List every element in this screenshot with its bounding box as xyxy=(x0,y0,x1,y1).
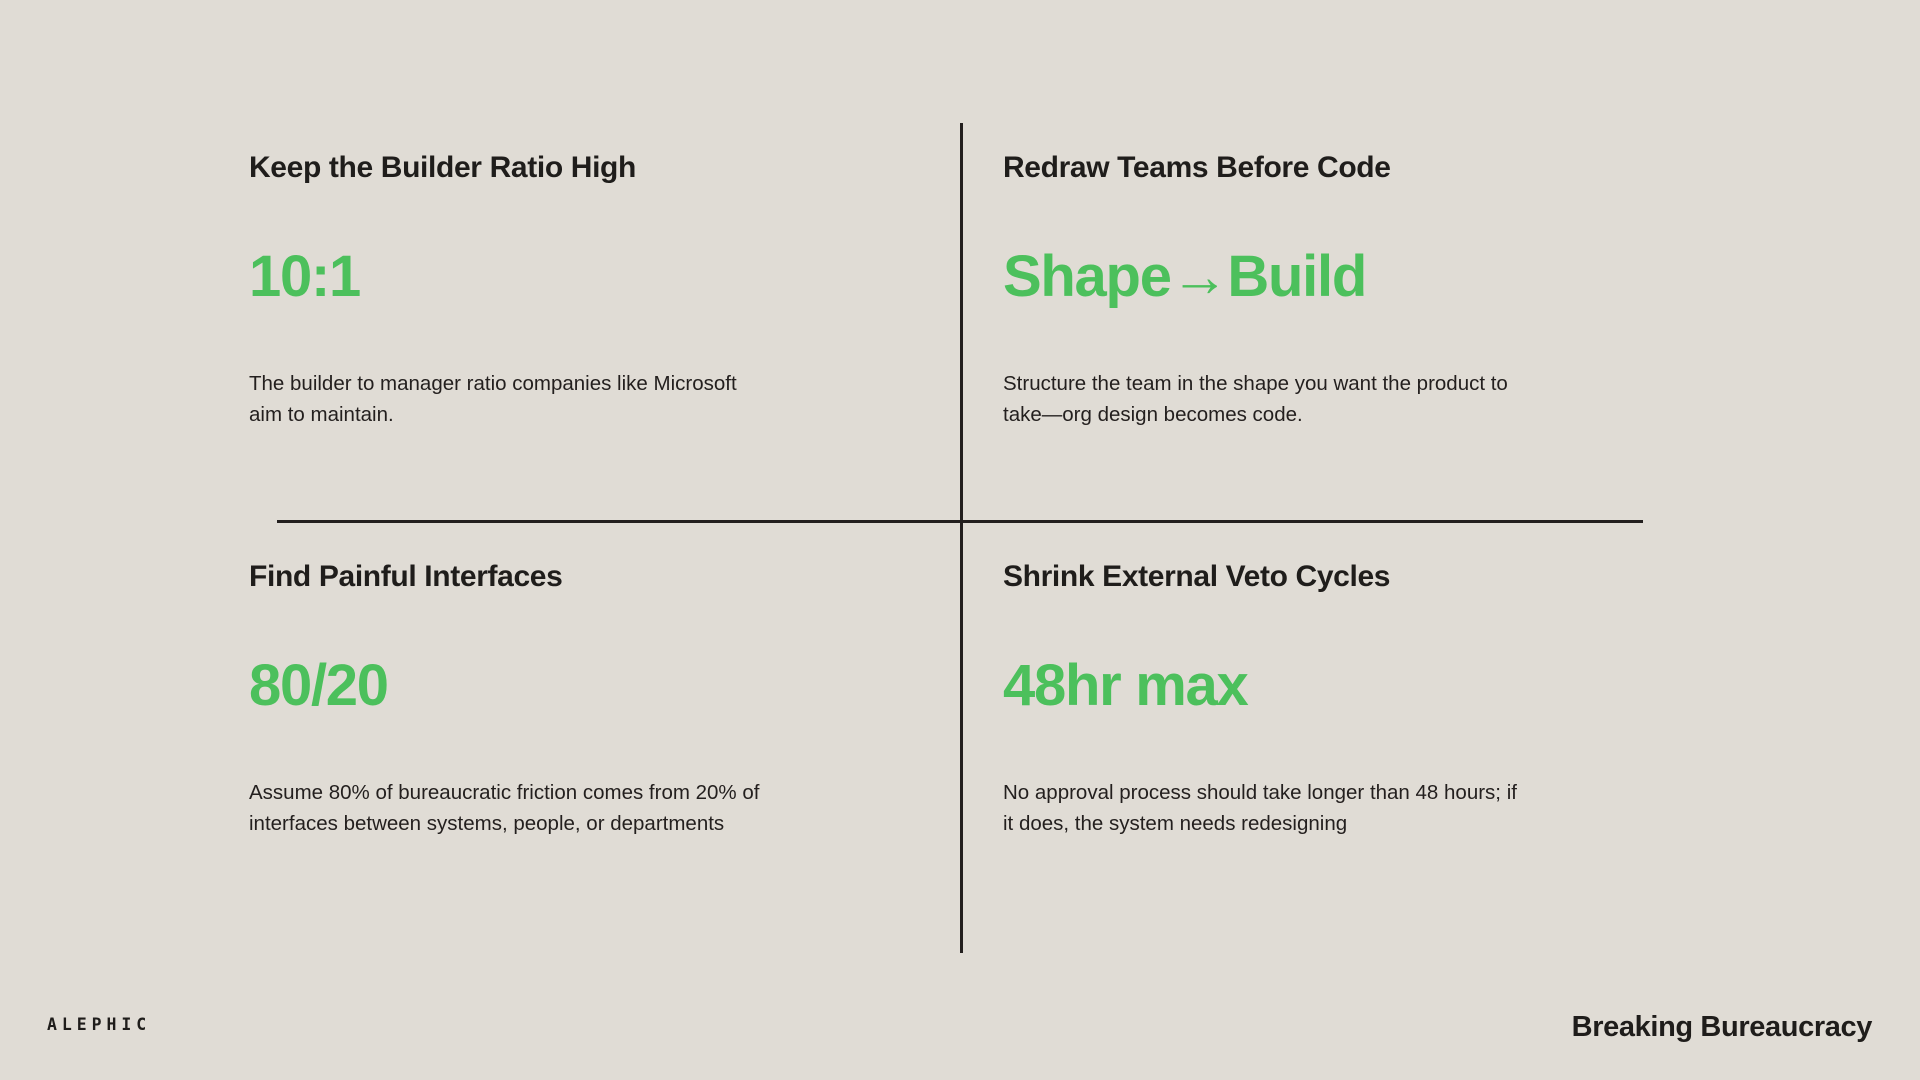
quadrant-title: Keep the Builder Ratio High xyxy=(249,151,849,186)
horizontal-divider xyxy=(277,520,1643,523)
quadrant-stat: 48hr max xyxy=(1003,656,1603,717)
quadrant-stat: Shape→Build xyxy=(1003,247,1603,308)
quadrant-stat: 80/20 xyxy=(249,656,849,717)
slide-canvas: Keep the Builder Ratio High 10:1 The bui… xyxy=(0,0,1920,1080)
alephic-logo: ALEPHIC xyxy=(47,1015,151,1034)
quadrant-body: The builder to manager ratio companies l… xyxy=(249,369,764,430)
deck-title: Breaking Bureaucracy xyxy=(1572,1011,1872,1044)
quadrant-painful-interfaces: Find Painful Interfaces 80/20 Assume 80%… xyxy=(249,532,849,839)
quadrant-title: Redraw Teams Before Code xyxy=(1003,151,1603,186)
quadrant-grid: Keep the Builder Ratio High 10:1 The bui… xyxy=(249,123,1649,953)
slide-footer: ALEPHIC Breaking Bureaucracy xyxy=(0,970,1920,1080)
quadrant-builder-ratio: Keep the Builder Ratio High 10:1 The bui… xyxy=(249,123,849,430)
quadrant-redraw-teams: Redraw Teams Before Code Shape→Build Str… xyxy=(1003,123,1603,430)
quadrant-stat: 10:1 xyxy=(249,247,849,308)
quadrant-body: No approval process should take longer t… xyxy=(1003,778,1518,839)
quadrant-title: Shrink External Veto Cycles xyxy=(1003,560,1603,595)
quadrant-veto-cycles: Shrink External Veto Cycles 48hr max No … xyxy=(1003,532,1603,839)
quadrant-body: Structure the team in the shape you want… xyxy=(1003,369,1518,430)
quadrant-body: Assume 80% of bureaucratic friction come… xyxy=(249,778,764,839)
vertical-divider xyxy=(960,123,963,953)
quadrant-title: Find Painful Interfaces xyxy=(249,560,849,595)
